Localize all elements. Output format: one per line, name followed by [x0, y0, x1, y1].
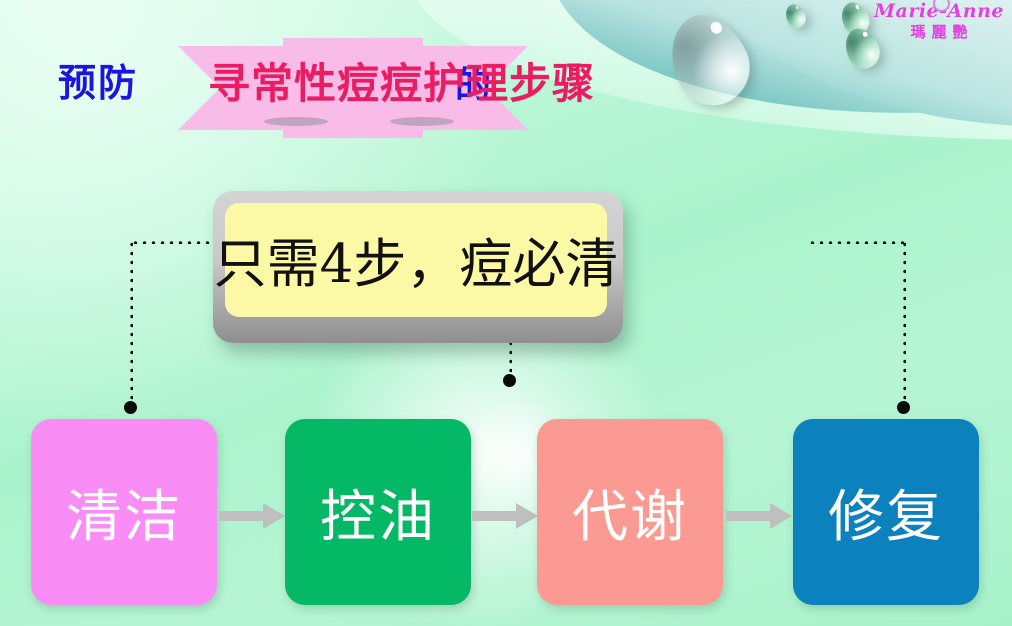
callout-text: 只需4步，痘必清	[214, 222, 619, 298]
slide-title: 预防 的 寻常性痘痘护理步骤	[0, 38, 1012, 122]
title-suffix-part: 护理步骤	[423, 59, 595, 108]
connector-right-endpoint	[897, 401, 910, 414]
connector-right-horizontal	[808, 240, 906, 244]
step-flow: 清洁 控油 代谢 修复	[0, 419, 1012, 605]
ribbon-fold-left	[264, 117, 328, 126]
arrow-right-icon	[726, 503, 792, 529]
step-label: 代谢	[572, 472, 688, 553]
droplet-highlight	[862, 31, 868, 38]
step-box-cleanse[interactable]: 清洁	[31, 419, 217, 605]
logo-chinese-name: 瑪麗艷	[874, 25, 1004, 40]
ribbon-fold-right	[390, 117, 454, 126]
arrow-right-icon	[219, 503, 285, 529]
connector-right-vertical	[902, 240, 906, 408]
step-label: 修复	[828, 472, 944, 553]
step-box-metabolism[interactable]: 代谢	[537, 419, 723, 605]
connector-middle-endpoint	[503, 374, 516, 387]
title-main-text: 寻常性痘痘护理步骤	[208, 50, 595, 111]
arrow-right-icon	[472, 503, 538, 529]
title-prefix: 预防	[58, 52, 138, 107]
callout-box: 只需4步，痘必清	[213, 191, 623, 343]
step-label: 控油	[320, 472, 436, 553]
slide-canvas: Marie-Anne 瑪麗艷 预防 的 寻常性痘痘护理步骤 只需4步，痘必清 清…	[0, 0, 1012, 626]
title-main-part: 寻常性痘痘	[208, 59, 423, 108]
brand-logo: Marie-Anne 瑪麗艷	[874, 2, 1004, 40]
droplet-highlight	[855, 4, 860, 9]
step-box-oil-control[interactable]: 控油	[285, 419, 471, 605]
step-box-repair[interactable]: 修复	[793, 419, 979, 605]
connector-left-vertical	[129, 240, 133, 408]
droplet-highlight	[795, 6, 799, 10]
connector-left-endpoint	[124, 401, 137, 414]
callout-inner: 只需4步，痘必清	[225, 203, 607, 317]
step-label: 清洁	[66, 472, 182, 553]
droplet-highlight	[709, 20, 724, 35]
